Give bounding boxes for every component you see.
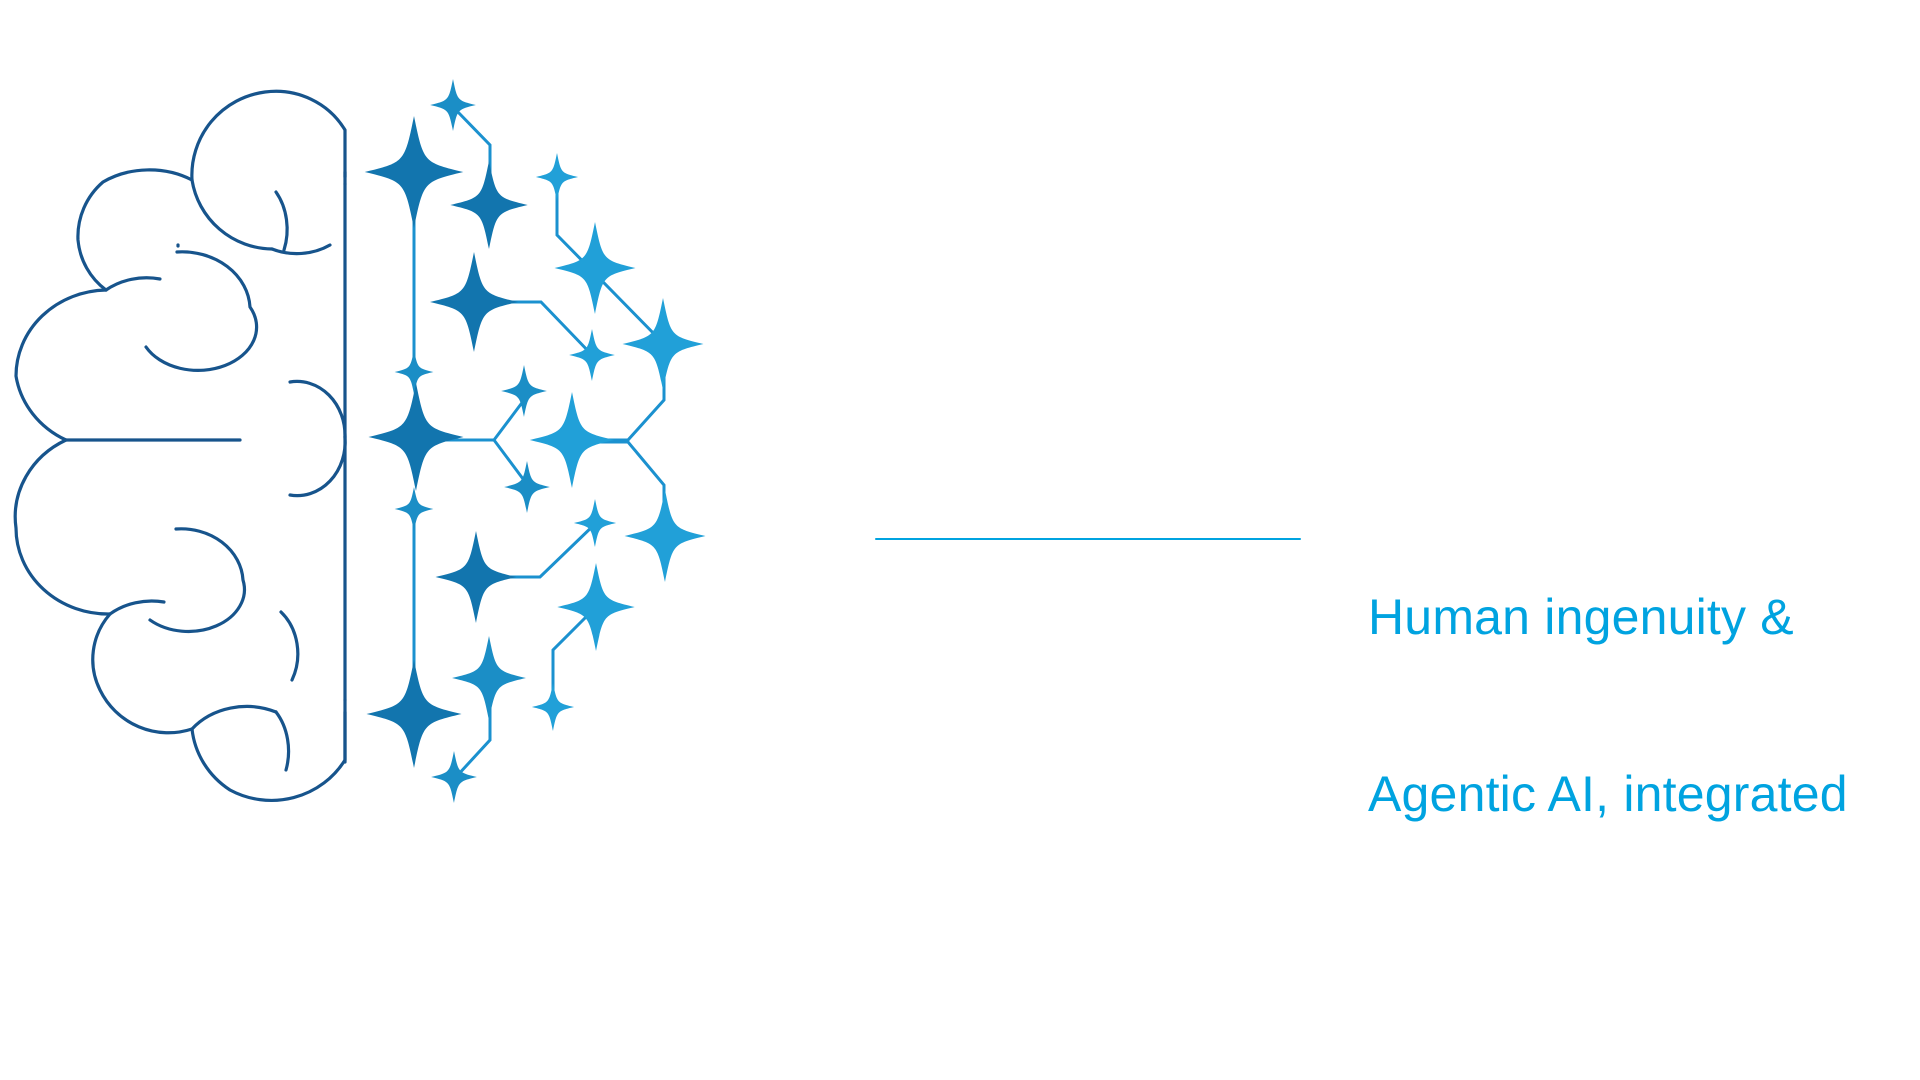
ai-node-network (365, 79, 706, 803)
sparkle-node-icon (532, 683, 574, 731)
sparkle-node-icon (431, 751, 477, 803)
tagline-line-2: Agentic AI, integrated (1368, 765, 1888, 824)
sparkle-node-icon (395, 350, 434, 394)
brain-lobe-lower-left (15, 440, 110, 614)
hero-canvas: Human ingenuity & Agentic AI, integrated (0, 0, 1920, 1080)
sparkle-node-icon (501, 365, 547, 417)
connector-n08-n12 (572, 349, 664, 440)
sparkle-node-icon (365, 116, 464, 228)
sparkle-node-icon (452, 636, 526, 720)
sparkle-node-icon (366, 660, 461, 768)
sparkle-node-icon (623, 298, 704, 390)
connector-n17-n16 (476, 523, 596, 577)
brain-fold-9 (281, 612, 298, 680)
brain-fold-10 (276, 712, 289, 770)
brain-fold-12 (106, 278, 160, 290)
sparkle-node-icon (557, 563, 634, 651)
brain-fold-2 (272, 245, 330, 254)
brain-fold-3 (146, 252, 257, 371)
sparkle-node-icon (555, 222, 636, 314)
sparkle-node-icon (625, 490, 706, 582)
brain-lobe-top-right (192, 91, 345, 249)
brain-fold-1 (276, 192, 287, 250)
brain-lobe-mid-left (16, 290, 106, 440)
brain-fold-5 (290, 381, 345, 437)
sparkle-node-icon (368, 383, 463, 491)
node-connector-lines (414, 110, 664, 777)
brain-lobe-top-left (78, 170, 192, 290)
brain-fold-8 (150, 529, 244, 632)
sparkle-node-icon (530, 392, 614, 488)
tagline-line-1: Human ingenuity & (1368, 588, 1888, 647)
brain-fold-11 (192, 706, 276, 729)
brain-fold-6 (290, 437, 345, 496)
brain-lobe-bottom-right (192, 712, 345, 800)
brain-fold-13 (110, 601, 164, 614)
sparkle-node-icon (430, 252, 518, 352)
sparkle-node-icon (536, 153, 578, 201)
sparkle-node-icon (504, 461, 550, 513)
half-brain-outline (15, 91, 345, 800)
sparkle-node-icon (436, 531, 517, 623)
sparkle-node-icon (450, 161, 527, 249)
tagline: Human ingenuity & Agentic AI, integrated (1368, 470, 1888, 942)
sparkle-node-icon (395, 487, 434, 531)
